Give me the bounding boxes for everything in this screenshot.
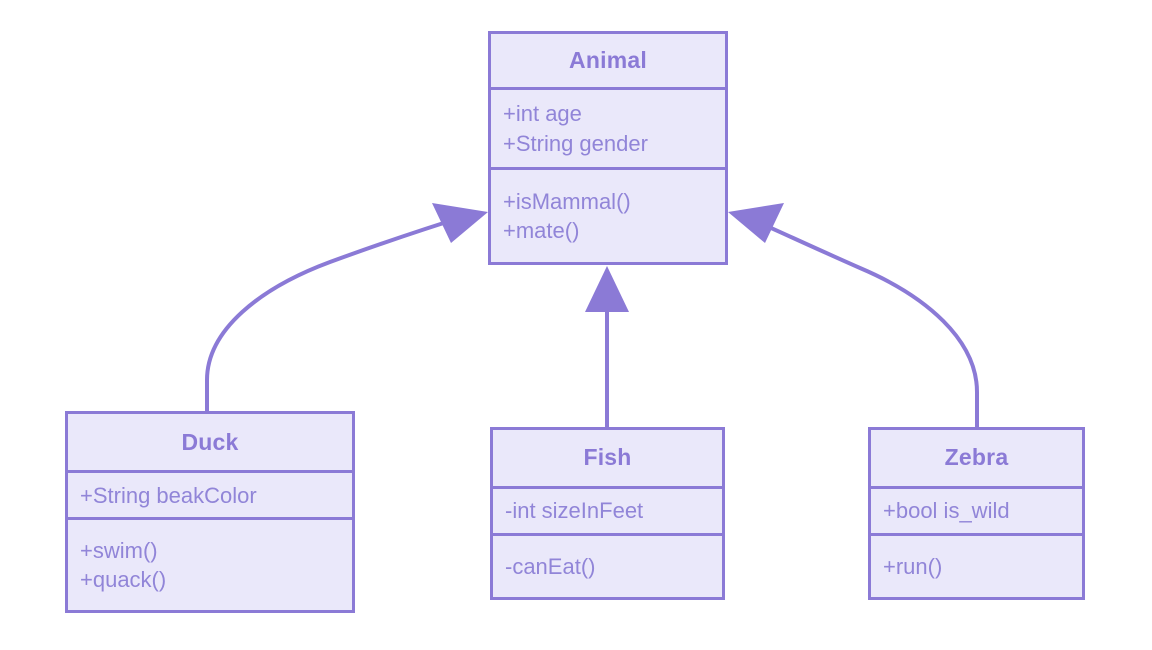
- class-operation: +quack(): [80, 565, 342, 594]
- uml-class-diagram-canvas: Animal +int age +String gender +isMammal…: [0, 0, 1152, 650]
- class-attributes-duck: +String beakColor: [68, 473, 352, 520]
- class-attributes-animal: +int age +String gender: [491, 90, 725, 170]
- class-name-duck: Duck: [68, 414, 352, 473]
- class-attribute: +bool is_wild: [883, 496, 1072, 525]
- class-operation: +isMammal(): [503, 187, 715, 216]
- class-box-zebra[interactable]: Zebra +bool is_wild +run(): [868, 427, 1085, 600]
- class-attributes-zebra: +bool is_wild: [871, 489, 1082, 536]
- class-box-fish[interactable]: Fish -int sizeInFeet -canEat(): [490, 427, 725, 600]
- arrowhead-zebra-to-animal: [728, 203, 784, 243]
- class-operation: +mate(): [503, 216, 715, 245]
- class-name-zebra: Zebra: [871, 430, 1082, 489]
- class-attributes-fish: -int sizeInFeet: [493, 489, 722, 536]
- class-attribute: +String beakColor: [80, 481, 342, 510]
- class-name-animal: Animal: [491, 34, 725, 90]
- class-operations-fish: -canEat(): [493, 536, 722, 597]
- class-operations-animal: +isMammal() +mate(): [491, 170, 725, 262]
- class-operation: +run(): [883, 552, 1072, 581]
- arrowhead-duck-to-animal: [432, 203, 488, 243]
- class-operations-zebra: +run(): [871, 536, 1082, 597]
- class-box-animal[interactable]: Animal +int age +String gender +isMammal…: [488, 31, 728, 265]
- class-attribute: +int age: [503, 99, 715, 128]
- class-attribute: -int sizeInFeet: [505, 496, 712, 525]
- arrowhead-fish-to-animal: [585, 266, 629, 312]
- class-box-duck[interactable]: Duck +String beakColor +swim() +quack(): [65, 411, 355, 613]
- class-operation: -canEat(): [505, 552, 712, 581]
- edge-zebra-to-animal: [744, 216, 977, 427]
- class-attribute: +String gender: [503, 129, 715, 158]
- edge-duck-to-animal: [207, 214, 472, 411]
- class-operations-duck: +swim() +quack(): [68, 520, 352, 610]
- class-operation: +swim(): [80, 536, 342, 565]
- class-name-fish: Fish: [493, 430, 722, 489]
